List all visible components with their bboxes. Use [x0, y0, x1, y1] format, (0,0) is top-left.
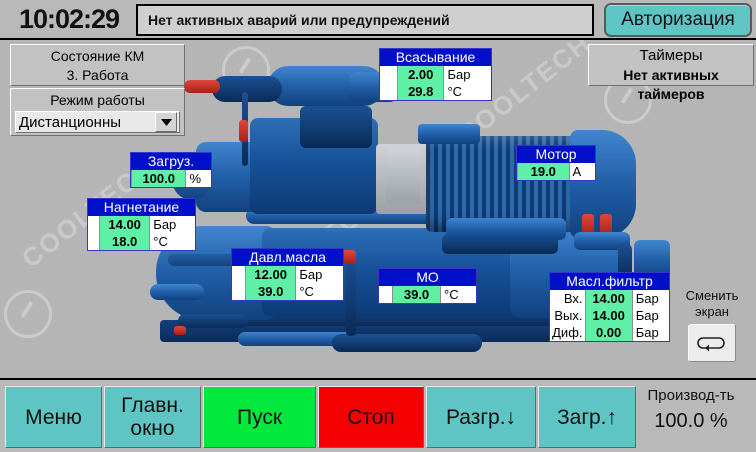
operation-mode-select[interactable]: Дистанционны [15, 111, 180, 133]
timers-title: Таймеры [589, 46, 753, 66]
readout-suction-pressure-unit: Бар [444, 66, 491, 83]
start-button[interactable]: Пуск [203, 386, 316, 448]
operation-mode-panel: Режим работы Дистанционны [10, 88, 185, 136]
readout-oil-filter-title: Масл.фильтр [550, 273, 669, 290]
readout-mo-unit: °C [441, 286, 476, 303]
operation-mode-value: Дистанционны [16, 114, 155, 131]
readout-load-title: Загруз. [131, 153, 211, 170]
operation-mode-title: Режим работы [11, 90, 184, 111]
change-screen-control[interactable]: Сменить экран [672, 288, 752, 378]
readout-suction[interactable]: Всасывание 2.00 Бар 29.8 °C [379, 48, 492, 101]
bottom-button-bar: Меню Главн. окно Пуск Стоп Разгр.↓ Загр.… [0, 378, 756, 452]
readout-oil-filter-in-label: Вх. [550, 290, 585, 307]
loop-arrow-icon[interactable] [688, 324, 736, 362]
readout-oil-filter-out-value: 14.00 [585, 307, 633, 324]
change-screen-label-line2: экран [672, 304, 752, 320]
readout-oil-pressure-title: Давл.масла [232, 249, 343, 266]
readout-discharge-title: Нагнетание [88, 199, 195, 216]
timers-panel: Таймеры Нет активных таймеров [588, 44, 754, 86]
hmi-screen: 10:02:29 Нет активных аварий или предупр… [0, 0, 756, 452]
readout-oil-pressure[interactable]: Давл.масла 12.00 Бар 39.0 °C [231, 248, 344, 301]
readout-oil-temp-value: 39.0 [245, 283, 296, 300]
main-window-button-line1: Главн. [121, 394, 184, 417]
readout-oil-filter-in-value: 14.00 [585, 290, 633, 307]
readout-oil-filter-diff-label: Диф. [550, 324, 585, 341]
readout-oil-pressure-value: 12.00 [245, 266, 296, 283]
capacity-label: Производ-ть [630, 384, 752, 408]
unload-button[interactable]: Разгр.↓ [426, 386, 536, 448]
readout-discharge-temp-unit: °C [150, 233, 195, 250]
menu-button[interactable]: Меню [5, 386, 102, 448]
readout-load[interactable]: Загруз. 100.0 % [130, 152, 212, 188]
readout-oil-filter-diff-value: 0.00 [585, 324, 633, 341]
readout-discharge-temp-value: 18.0 [99, 233, 150, 250]
readout-mo[interactable]: МО 39.0 °C [378, 268, 477, 304]
readout-motor-title: Мотор [517, 146, 595, 163]
readout-suction-title: Всасывание [380, 49, 491, 66]
cooltech-ring-icon [4, 290, 52, 338]
readout-motor-current-value: 19.0 [517, 163, 570, 180]
readout-oil-filter-out-label: Вых. [550, 307, 585, 324]
load-button[interactable]: Загр.↑ [538, 386, 636, 448]
alarm-status-box[interactable]: Нет активных аварий или предупреждений [136, 4, 594, 36]
readout-suction-temp-unit: °C [444, 83, 491, 100]
readout-load-unit: % [186, 170, 211, 187]
readout-discharge[interactable]: Нагнетание 14.00 Бар 18.0 °C [87, 198, 196, 251]
compressor-state-title: Состояние КМ [11, 46, 184, 66]
timers-value: Нет активных таймеров [589, 66, 753, 104]
readout-discharge-pressure-unit: Бар [150, 216, 195, 233]
readout-discharge-pressure-value: 14.00 [99, 216, 150, 233]
main-window-button-line2: окно [130, 417, 174, 440]
main-window-button[interactable]: Главн. окно [104, 386, 201, 448]
capacity-value: 100.0 % [630, 408, 752, 434]
compressor-state-value: 3. Работа [11, 66, 184, 85]
readout-oil-filter-out-unit: Бар [633, 307, 669, 324]
readout-motor-current-unit: A [570, 163, 595, 180]
readout-motor[interactable]: Мотор 19.0 A [516, 145, 596, 181]
alarm-status-text: Нет активных аварий или предупреждений [138, 12, 450, 28]
mimic-diagram-area: COOLTECH COOLTECH COOLTECH [0, 40, 756, 378]
readout-oil-temp-unit: °C [296, 283, 343, 300]
readout-suction-temp-value: 29.8 [397, 83, 444, 100]
readout-oil-filter-diff-unit: Бар [633, 324, 669, 341]
clock-display: 10:02:29 [6, 3, 132, 36]
readout-mo-title: МО [379, 269, 476, 286]
readout-oil-filter-in-unit: Бар [633, 290, 669, 307]
readout-mo-value: 39.0 [392, 286, 441, 303]
top-status-bar: 10:02:29 Нет активных аварий или предупр… [0, 0, 756, 40]
chevron-down-icon[interactable] [155, 112, 177, 132]
readout-oil-pressure-unit: Бар [296, 266, 343, 283]
authorization-button[interactable]: Авторизация [604, 3, 752, 37]
readout-suction-pressure-value: 2.00 [397, 66, 444, 83]
readout-load-value: 100.0 [131, 170, 186, 187]
capacity-indicator: Производ-ть 100.0 % [630, 384, 752, 450]
stop-button[interactable]: Стоп [318, 386, 424, 448]
compressor-state-panel: Состояние КМ 3. Работа [10, 44, 185, 86]
readout-oil-filter[interactable]: Масл.фильтр Вх. 14.00 Бар Вых. 14.00 Бар… [549, 272, 670, 342]
change-screen-label-line1: Сменить [672, 288, 752, 304]
